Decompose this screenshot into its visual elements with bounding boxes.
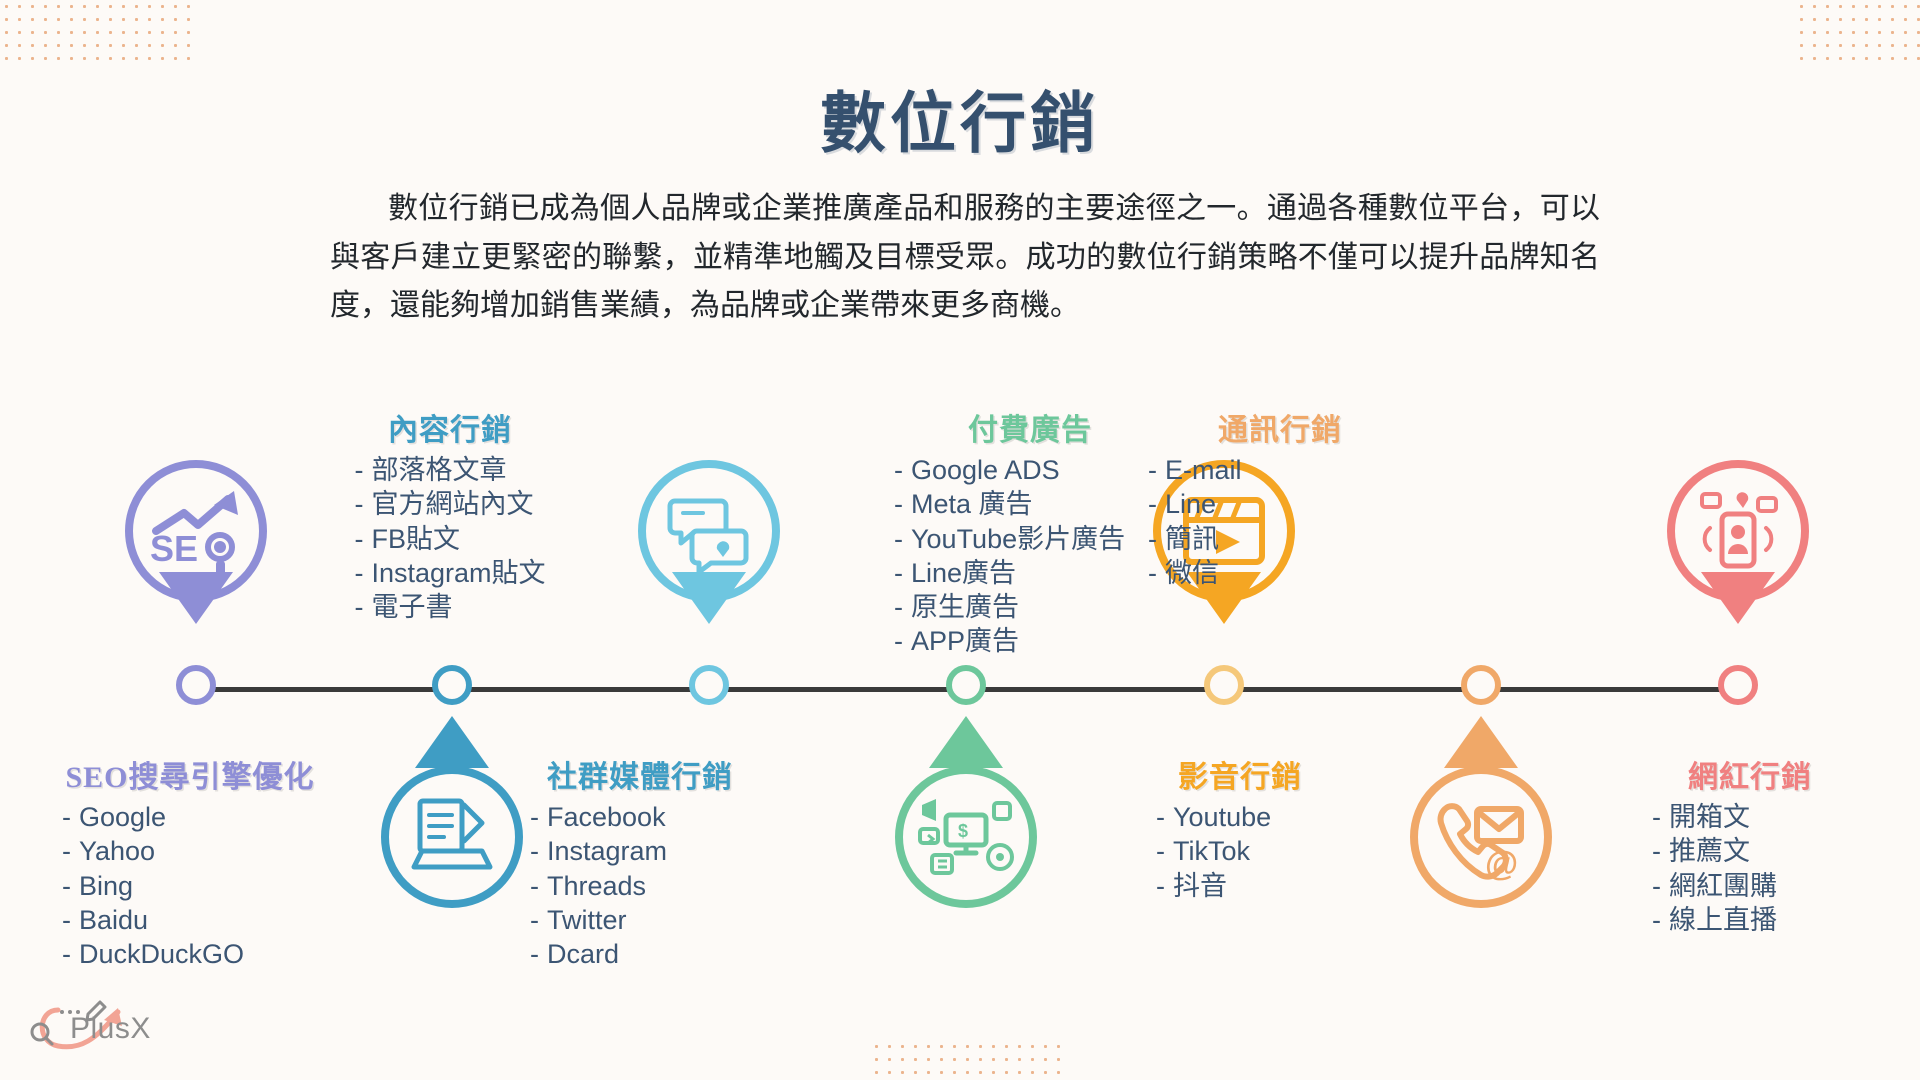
- logo-label: PlusX: [70, 1012, 151, 1046]
- timeline-node-influencer-marketing[interactable]: [1718, 665, 1758, 705]
- svg-text:@: @: [1485, 845, 1518, 881]
- phone-person-heart-icon: [1667, 460, 1809, 602]
- list-item: -Instagram: [530, 834, 800, 868]
- list-item: -原生廣告: [894, 590, 1180, 624]
- list-item: -簡訊: [1148, 522, 1430, 556]
- drop-paid-advertising[interactable]: $: [895, 766, 1037, 908]
- list-item: -Yahoo: [62, 834, 340, 868]
- list-item: -Dcard: [530, 937, 800, 971]
- list-item: -微信: [1148, 556, 1430, 590]
- phone-envelope-at-icon: @: [1410, 766, 1552, 908]
- seo-growth-chart-icon: SE: [125, 460, 267, 602]
- list-item: -電子書: [354, 590, 545, 624]
- block-list: -部落格文章 -官方網站內文 -FB貼文 -Instagram貼文 -電子書: [354, 453, 545, 624]
- list-item: -FB貼文: [354, 522, 545, 556]
- block-heading: SEO搜尋引擎優化: [40, 752, 340, 796]
- list-item: -Threads: [530, 869, 800, 903]
- timeline-node-social-media-marketing[interactable]: [689, 665, 729, 705]
- list-item: -Youtube: [1156, 800, 1380, 834]
- list-item: -抖音: [1156, 869, 1380, 903]
- block-list: -Google -Yahoo -Bing -Baidu -DuckDuckGO: [40, 800, 340, 971]
- block-heading: 影音行銷: [1100, 752, 1380, 796]
- drop-tail: [415, 716, 489, 768]
- list-item: -Twitter: [530, 903, 800, 937]
- block-list: -Facebook -Instagram -Threads -Twitter -…: [480, 800, 800, 971]
- timeline-node-seo[interactable]: [176, 665, 216, 705]
- timeline-node-content-marketing[interactable]: [432, 665, 472, 705]
- list-item: -開箱文: [1652, 800, 1900, 834]
- list-item: -Bing: [62, 869, 340, 903]
- timeline-node-video-marketing[interactable]: [1204, 665, 1244, 705]
- block-influencer-marketing: 網紅行銷 -開箱文 -推薦文 -網紅團購 -線上直播: [1600, 752, 1900, 937]
- block-heading: 網紅行銷: [1600, 752, 1900, 796]
- list-item: -線上直播: [1652, 903, 1900, 937]
- timeline-node-paid-advertising[interactable]: [946, 665, 986, 705]
- list-item: -DuckDuckGO: [62, 937, 340, 971]
- block-social-media-marketing: 社群媒體行銷 -Facebook -Instagram -Threads -Tw…: [480, 752, 800, 971]
- list-item: -APP廣告: [894, 624, 1180, 658]
- pin-seo[interactable]: SE: [125, 460, 267, 602]
- list-item: -Line: [1148, 487, 1430, 521]
- list-item: -TikTok: [1156, 834, 1380, 868]
- list-item: -E-mail: [1148, 453, 1430, 487]
- block-communication-marketing: 通訊行銷 -E-mail -Line -簡訊 -微信: [1130, 405, 1430, 590]
- pin-influencer-marketing[interactable]: [1667, 460, 1809, 602]
- list-item: -官方網站內文: [354, 487, 545, 521]
- drop-tail: [1444, 716, 1518, 768]
- list-item: -Instagram貼文: [354, 556, 545, 590]
- block-video-marketing: 影音行銷 -Youtube -TikTok -抖音: [1100, 752, 1380, 903]
- block-list: -Youtube -TikTok -抖音: [1100, 800, 1380, 903]
- block-heading: 內容行銷: [300, 405, 600, 449]
- block-content-marketing: 內容行銷 -部落格文章 -官方網站內文 -FB貼文 -Instagram貼文 -…: [300, 405, 600, 624]
- list-item: -Facebook: [530, 800, 800, 834]
- list-item: -Google: [62, 800, 340, 834]
- list-item: -Baidu: [62, 903, 340, 937]
- block-list: -E-mail -Line -簡訊 -微信: [1130, 453, 1430, 590]
- svg-text:$: $: [958, 821, 968, 841]
- drop-communication-marketing[interactable]: @: [1410, 766, 1552, 908]
- svg-text:SE: SE: [150, 528, 198, 569]
- block-list: -開箱文 -推薦文 -網紅團購 -線上直播: [1600, 800, 1900, 937]
- drop-tail: [929, 716, 1003, 768]
- pin-social-media-marketing[interactable]: [638, 460, 780, 602]
- block-heading: 通訊行銷: [1130, 405, 1430, 449]
- chat-bubbles-heart-icon: [638, 460, 780, 602]
- plusx-logo: PlusX: [18, 990, 168, 1068]
- block-seo: SEO搜尋引擎優化 -Google -Yahoo -Bing -Baidu -D…: [40, 752, 340, 971]
- block-heading: 社群媒體行銷: [480, 752, 800, 796]
- list-item: -推薦文: [1652, 834, 1900, 868]
- list-item: -部落格文章: [354, 453, 545, 487]
- timeline: SE SEO搜尋引擎優化 -Google -Yahoo -Bing -Baidu…: [0, 0, 1920, 1080]
- megaphone-monitor-ads-icon: $: [895, 766, 1037, 908]
- list-item: -網紅團購: [1652, 869, 1900, 903]
- timeline-node-communication-marketing[interactable]: [1461, 665, 1501, 705]
